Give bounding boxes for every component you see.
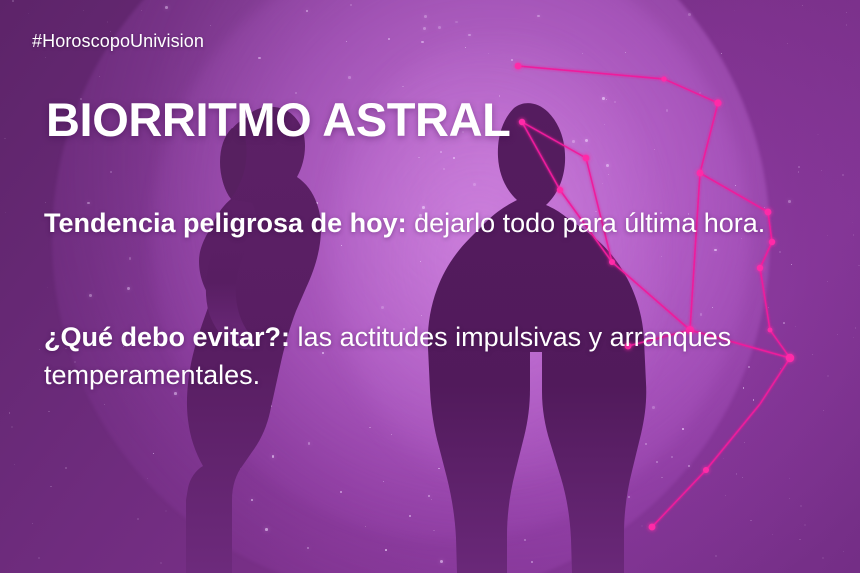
paragraph-tendencia: Tendencia peligrosa de hoy: dejarlo todo…	[44, 204, 774, 242]
constellation-graphic	[0, 0, 860, 573]
paragraph-lead: Tendencia peligrosa de hoy:	[44, 208, 407, 238]
constellation-lines	[518, 66, 790, 527]
paragraph-lead: ¿Qué debo evitar?:	[44, 322, 290, 352]
paragraph-evitar: ¿Qué debo evitar?: las actitudes impulsi…	[44, 318, 774, 394]
horoscope-card: #HoroscopoUnivision BIORRITMO ASTRAL Ten…	[0, 0, 860, 573]
page-title: BIORRITMO ASTRAL	[46, 96, 510, 143]
paragraph-rest: dejarlo todo para última hora.	[407, 208, 766, 238]
constellation-stars	[515, 63, 795, 531]
hashtag-label: #HoroscopoUnivision	[32, 31, 204, 52]
paragraph-text: Tendencia peligrosa de hoy: dejarlo todo…	[44, 204, 774, 242]
paragraph-text: ¿Qué debo evitar?: las actitudes impulsi…	[44, 318, 774, 394]
